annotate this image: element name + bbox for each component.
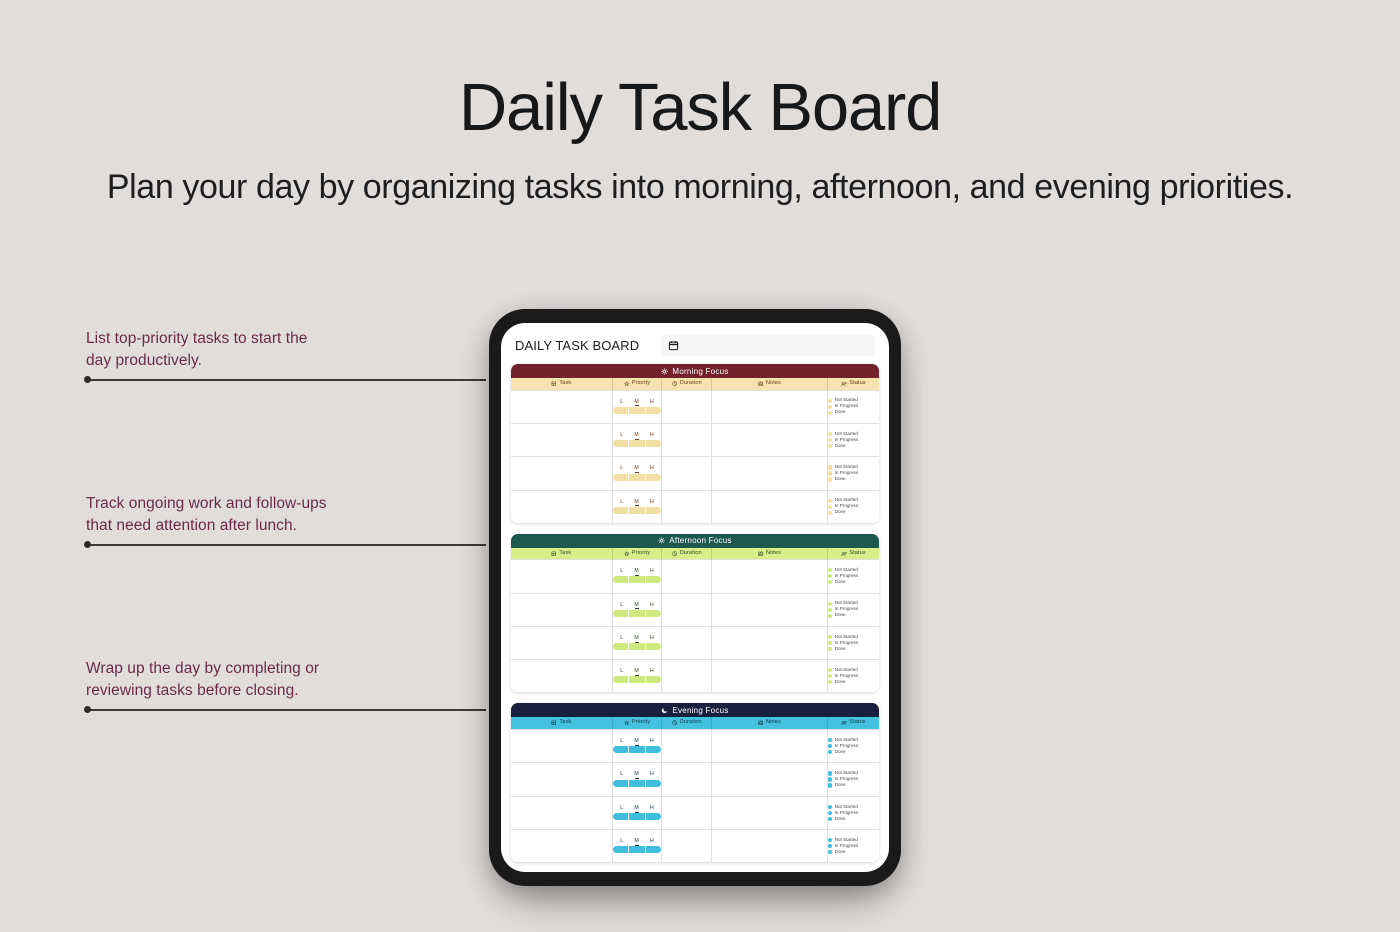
- status-option-not-started[interactable]: Not Started: [828, 805, 879, 810]
- priority-label-m[interactable]: M: [634, 500, 638, 505]
- cell-priority[interactable]: LMH: [612, 457, 662, 490]
- board-header: DAILY TASK BOARD: [511, 335, 879, 364]
- status-label: Not Started: [835, 738, 858, 743]
- table-icon: [551, 381, 557, 387]
- status-option-done[interactable]: Done: [828, 580, 879, 585]
- status-label: Done: [835, 510, 846, 515]
- cell-notes[interactable]: [712, 593, 828, 626]
- cell-notes[interactable]: [712, 457, 828, 490]
- cell-duration[interactable]: [662, 390, 712, 423]
- status-label: In Progress: [835, 471, 859, 476]
- priority-labels: LMH: [613, 603, 662, 608]
- status-label: Done: [835, 750, 846, 755]
- priority-label-h[interactable]: H: [650, 500, 654, 505]
- tablet-device: DAILY TASK BOARD Morning FocusTaskPriori…: [489, 309, 901, 886]
- section-afternoon: Afternoon FocusTaskPriorityDurationNotes…: [511, 534, 879, 693]
- page-title: Daily Task Board: [0, 74, 1400, 141]
- moon-icon: [661, 707, 668, 714]
- status-option-in-progress[interactable]: In Progress: [828, 844, 879, 849]
- status-option-not-started[interactable]: Not Started: [828, 601, 879, 606]
- cell-duration[interactable]: [662, 423, 712, 456]
- sun-icon: [661, 368, 668, 375]
- calendar-icon: [668, 340, 679, 351]
- clock-icon: [672, 551, 678, 557]
- status-label: Not Started: [835, 805, 858, 810]
- cell-priority[interactable]: LMH: [612, 593, 662, 626]
- evening-annotation-connector-line: [86, 709, 486, 711]
- priority-label-h[interactable]: H: [650, 433, 654, 438]
- cell-status[interactable]: Not StartedIn ProgressDone: [827, 593, 879, 626]
- cell-duration[interactable]: [662, 593, 712, 626]
- status-label: In Progress: [835, 811, 859, 816]
- status-dot: [828, 465, 832, 469]
- status-option-not-started[interactable]: Not Started: [828, 771, 879, 776]
- cell-duration[interactable]: [662, 457, 712, 490]
- status-dot: [828, 405, 832, 409]
- status-option-in-progress[interactable]: In Progress: [828, 777, 879, 782]
- priority-slider[interactable]: [613, 576, 662, 583]
- focus-sections: Morning FocusTaskPriorityDurationNotesSt…: [511, 364, 879, 862]
- column-label-duration: Duration: [680, 381, 702, 387]
- status-dot: [828, 750, 832, 754]
- cell-priority[interactable]: LMH: [612, 763, 662, 796]
- cell-task[interactable]: [511, 490, 612, 523]
- cell-status[interactable]: Not StartedIn ProgressDone: [827, 729, 879, 762]
- column-header-task: Task: [511, 548, 612, 560]
- priority-labels: LMH: [613, 400, 662, 405]
- status-dot: [828, 674, 832, 678]
- status-label: In Progress: [835, 574, 859, 579]
- cell-task[interactable]: [511, 660, 612, 693]
- status-option-in-progress[interactable]: In Progress: [828, 607, 879, 612]
- pencil-square-icon: [758, 381, 764, 387]
- cell-priority[interactable]: LMH: [612, 390, 662, 423]
- priority-label-m[interactable]: M: [634, 603, 638, 608]
- status-option-not-started[interactable]: Not Started: [828, 838, 879, 843]
- table-header-row: TaskPriorityDurationNotesStatus: [511, 717, 879, 729]
- morning-annotation: List top-priority tasks to start the day…: [86, 328, 307, 373]
- column-header-priority: Priority: [612, 378, 662, 390]
- cell-duration[interactable]: [662, 560, 712, 593]
- column-header-priority: Priority: [612, 548, 662, 560]
- cell-notes[interactable]: [712, 490, 828, 523]
- status-dot: [828, 511, 832, 515]
- star-icon: [624, 551, 630, 557]
- status-option-in-progress[interactable]: In Progress: [828, 438, 879, 443]
- status-option-done[interactable]: Done: [828, 680, 879, 685]
- status-dot: [828, 399, 832, 403]
- cell-notes[interactable]: [712, 796, 828, 829]
- status-option-in-progress[interactable]: In Progress: [828, 744, 879, 749]
- cell-status[interactable]: Not StartedIn ProgressDone: [827, 660, 879, 693]
- priority-label-l[interactable]: L: [620, 500, 623, 505]
- table-row: LMHNot StartedIn ProgressDone: [511, 626, 879, 659]
- evening-annotation-connector-dot: [84, 706, 91, 713]
- cell-priority[interactable]: LMH: [612, 830, 662, 863]
- person-icon: [841, 551, 847, 557]
- cell-duration[interactable]: [662, 763, 712, 796]
- cell-task[interactable]: [511, 560, 612, 593]
- status-dot: [828, 844, 832, 848]
- priority-label-m[interactable]: M: [634, 669, 638, 674]
- cell-task[interactable]: [511, 423, 612, 456]
- priority-label-m[interactable]: M: [634, 400, 638, 405]
- priority-labels: LMH: [613, 669, 662, 674]
- status-dot: [828, 614, 832, 618]
- column-header-task: Task: [511, 378, 612, 390]
- status-dot: [828, 602, 832, 606]
- status-label: Not Started: [835, 465, 858, 470]
- status-option-in-progress[interactable]: In Progress: [828, 504, 879, 509]
- table-row: LMHNot StartedIn ProgressDone: [511, 830, 879, 863]
- status-option-done[interactable]: Done: [828, 477, 879, 482]
- status-option-not-started[interactable]: Not Started: [828, 465, 879, 470]
- status-option-not-started[interactable]: Not Started: [828, 738, 879, 743]
- status-option-in-progress[interactable]: In Progress: [828, 404, 879, 409]
- column-label-notes: Notes: [766, 381, 781, 387]
- status-label: Done: [835, 680, 846, 685]
- cell-priority[interactable]: LMH: [612, 423, 662, 456]
- cell-status[interactable]: Not StartedIn ProgressDone: [827, 490, 879, 523]
- priority-slider[interactable]: [613, 440, 662, 447]
- status-option-done[interactable]: Done: [828, 444, 879, 449]
- cell-priority[interactable]: LMH: [612, 490, 662, 523]
- status-dot: [828, 744, 832, 748]
- status-label: In Progress: [835, 744, 859, 749]
- cell-task[interactable]: [511, 763, 612, 796]
- status-dot: [828, 771, 832, 775]
- section-title-morning: Morning Focus: [672, 367, 728, 376]
- priority-slider[interactable]: [613, 643, 662, 650]
- cell-priority[interactable]: LMH: [612, 626, 662, 659]
- table-row: LMHNot StartedIn ProgressDone: [511, 729, 879, 762]
- priority-slider[interactable]: [613, 676, 662, 683]
- priority-label-h[interactable]: H: [650, 839, 654, 844]
- column-label-duration: Duration: [680, 551, 702, 557]
- cell-duration[interactable]: [662, 830, 712, 863]
- status-option-not-started[interactable]: Not Started: [828, 568, 879, 573]
- table-morning: TaskPriorityDurationNotesStatusLMHNot St…: [511, 378, 879, 523]
- column-label-status: Status: [849, 381, 865, 387]
- table-header-row: TaskPriorityDurationNotesStatus: [511, 548, 879, 560]
- status-label: Not Started: [835, 771, 858, 776]
- status-label: In Progress: [835, 438, 859, 443]
- table-header-row: TaskPriorityDurationNotesStatus: [511, 378, 879, 390]
- column-label-priority: Priority: [632, 720, 650, 726]
- afternoon-annotation: Track ongoing work and follow-ups that n…: [86, 493, 327, 538]
- status-label: Done: [835, 817, 846, 822]
- status-dot: [828, 444, 832, 448]
- cell-status[interactable]: Not StartedIn ProgressDone: [827, 560, 879, 593]
- status-label: Not Started: [835, 601, 858, 606]
- priority-labels: LMH: [613, 636, 662, 641]
- priority-labels: LMH: [613, 806, 662, 811]
- date-input[interactable]: [661, 335, 875, 356]
- priority-label-h[interactable]: H: [650, 636, 654, 641]
- person-icon: [841, 381, 847, 387]
- priority-slider[interactable]: [613, 507, 662, 514]
- headline-block: Daily Task Board Plan your day by organi…: [0, 74, 1400, 211]
- cell-status[interactable]: Not StartedIn ProgressDone: [827, 763, 879, 796]
- cell-notes[interactable]: [712, 423, 828, 456]
- priority-labels: LMH: [613, 739, 662, 744]
- board-title: DAILY TASK BOARD: [515, 338, 639, 353]
- section-header-afternoon: Afternoon Focus: [511, 534, 879, 548]
- table-row: LMHNot StartedIn ProgressDone: [511, 423, 879, 456]
- status-option-done[interactable]: Done: [828, 410, 879, 415]
- cell-priority[interactable]: LMH: [612, 660, 662, 693]
- status-dot: [828, 641, 832, 645]
- column-header-notes: Notes: [712, 378, 828, 390]
- status-label: Not Started: [835, 498, 858, 503]
- status-option-done[interactable]: Done: [828, 817, 879, 822]
- status-dot: [828, 580, 832, 584]
- sun-rays-icon: [658, 537, 665, 544]
- status-option-in-progress[interactable]: In Progress: [828, 574, 879, 579]
- priority-labels: LMH: [613, 569, 662, 574]
- pencil-square-icon: [758, 551, 764, 557]
- priority-label-m[interactable]: M: [634, 433, 638, 438]
- cell-status[interactable]: Not StartedIn ProgressDone: [827, 796, 879, 829]
- column-header-notes: Notes: [712, 548, 828, 560]
- section-title-evening: Evening Focus: [672, 706, 728, 715]
- cell-status[interactable]: Not StartedIn ProgressDone: [827, 457, 879, 490]
- priority-label-l[interactable]: L: [620, 806, 623, 811]
- priority-label-l[interactable]: L: [620, 739, 623, 744]
- page-subtitle: Plan your day by organizing tasks into m…: [0, 163, 1400, 211]
- priority-label-l[interactable]: L: [620, 772, 623, 777]
- section-morning: Morning FocusTaskPriorityDurationNotesSt…: [511, 364, 879, 523]
- evening-annotation-text: Wrap up the day by completing or reviewi…: [86, 658, 319, 703]
- priority-labels: LMH: [613, 433, 662, 438]
- table-row: LMHNot StartedIn ProgressDone: [511, 796, 879, 829]
- table-icon: [551, 720, 557, 726]
- status-option-done[interactable]: Done: [828, 850, 879, 855]
- afternoon-annotation-connector-dot: [84, 541, 91, 548]
- clock-icon: [672, 381, 678, 387]
- priority-label-h[interactable]: H: [650, 739, 654, 744]
- priority-slider[interactable]: [613, 610, 662, 617]
- priority-label-l[interactable]: L: [620, 569, 623, 574]
- priority-label-l[interactable]: L: [620, 433, 623, 438]
- status-label: Done: [835, 580, 846, 585]
- status-dot: [828, 411, 832, 415]
- priority-label-m[interactable]: M: [634, 636, 638, 641]
- priority-label-m[interactable]: M: [634, 839, 638, 844]
- priority-label-h[interactable]: H: [650, 669, 654, 674]
- status-option-done[interactable]: Done: [828, 510, 879, 515]
- priority-label-l[interactable]: L: [620, 839, 623, 844]
- status-label: In Progress: [835, 607, 859, 612]
- cell-notes[interactable]: [712, 660, 828, 693]
- priority-label-m[interactable]: M: [634, 569, 638, 574]
- status-label: Not Started: [835, 838, 858, 843]
- status-option-done[interactable]: Done: [828, 613, 879, 618]
- priority-slider[interactable]: [613, 746, 662, 753]
- cell-duration[interactable]: [662, 626, 712, 659]
- column-header-notes: Notes: [712, 717, 828, 729]
- column-label-status: Status: [849, 720, 865, 726]
- priority-slider[interactable]: [613, 407, 662, 414]
- status-dot: [828, 668, 832, 672]
- column-label-notes: Notes: [766, 551, 781, 557]
- priority-slider[interactable]: [613, 474, 662, 481]
- status-dot: [828, 477, 832, 481]
- status-label: Not Started: [835, 668, 858, 673]
- column-label-notes: Notes: [766, 720, 781, 726]
- status-dot: [828, 805, 832, 809]
- table-row: LMHNot StartedIn ProgressDone: [511, 490, 879, 523]
- cell-status[interactable]: Not StartedIn ProgressDone: [827, 626, 879, 659]
- column-header-duration: Duration: [662, 548, 712, 560]
- cell-notes[interactable]: [712, 390, 828, 423]
- status-dot: [828, 499, 832, 503]
- column-label-task: Task: [559, 381, 571, 387]
- cell-task[interactable]: [511, 626, 612, 659]
- cell-priority[interactable]: LMH: [612, 560, 662, 593]
- priority-label-l[interactable]: L: [620, 466, 623, 471]
- column-label-duration: Duration: [680, 720, 702, 726]
- status-dot: [828, 838, 832, 842]
- priority-label-m[interactable]: M: [634, 772, 638, 777]
- priority-label-l[interactable]: L: [620, 636, 623, 641]
- section-evening: Evening FocusTaskPriorityDurationNotesSt…: [511, 703, 879, 862]
- cell-duration[interactable]: [662, 660, 712, 693]
- afternoon-annotation-connector-line: [86, 544, 486, 546]
- status-label: Done: [835, 444, 846, 449]
- priority-label-l[interactable]: L: [620, 400, 623, 405]
- status-label: In Progress: [835, 504, 859, 509]
- cell-task[interactable]: [511, 729, 612, 762]
- morning-annotation-connector-line: [86, 379, 486, 381]
- status-label: In Progress: [835, 844, 859, 849]
- cell-notes[interactable]: [712, 729, 828, 762]
- status-option-not-started[interactable]: Not Started: [828, 398, 879, 403]
- star-icon: [624, 381, 630, 387]
- priority-label-m[interactable]: M: [634, 466, 638, 471]
- tablet-screen: DAILY TASK BOARD Morning FocusTaskPriori…: [501, 323, 889, 872]
- status-label: Done: [835, 647, 846, 652]
- priority-label-h[interactable]: H: [650, 772, 654, 777]
- status-label: Done: [835, 410, 846, 415]
- section-header-evening: Evening Focus: [511, 703, 879, 717]
- priority-label-h[interactable]: H: [650, 569, 654, 574]
- column-header-duration: Duration: [662, 378, 712, 390]
- column-header-task: Task: [511, 717, 612, 729]
- status-option-done[interactable]: Done: [828, 647, 879, 652]
- priority-label-h[interactable]: H: [650, 466, 654, 471]
- table-row: LMHNot StartedIn ProgressDone: [511, 390, 879, 423]
- status-dot: [828, 738, 832, 742]
- status-dot: [828, 432, 832, 436]
- priority-label-h[interactable]: H: [650, 806, 654, 811]
- section-title-afternoon: Afternoon Focus: [669, 536, 731, 545]
- cell-duration[interactable]: [662, 729, 712, 762]
- priority-label-m[interactable]: M: [634, 806, 638, 811]
- status-label: Done: [835, 850, 846, 855]
- status-option-in-progress[interactable]: In Progress: [828, 674, 879, 679]
- cell-priority[interactable]: LMH: [612, 796, 662, 829]
- afternoon-annotation-text: Track ongoing work and follow-ups that n…: [86, 493, 327, 538]
- status-dot: [828, 438, 832, 442]
- status-option-in-progress[interactable]: In Progress: [828, 811, 879, 816]
- morning-annotation-connector-dot: [84, 376, 91, 383]
- status-dot: [828, 608, 832, 612]
- status-option-done[interactable]: Done: [828, 783, 879, 788]
- cell-status[interactable]: Not StartedIn ProgressDone: [827, 390, 879, 423]
- cell-notes[interactable]: [712, 626, 828, 659]
- cell-task[interactable]: [511, 830, 612, 863]
- priority-label-h[interactable]: H: [650, 400, 654, 405]
- status-option-in-progress[interactable]: In Progress: [828, 641, 879, 646]
- priority-label-l[interactable]: L: [620, 603, 623, 608]
- cell-status[interactable]: Not StartedIn ProgressDone: [827, 423, 879, 456]
- priority-label-l[interactable]: L: [620, 669, 623, 674]
- status-option-not-started[interactable]: Not Started: [828, 668, 879, 673]
- cell-status[interactable]: Not StartedIn ProgressDone: [827, 830, 879, 863]
- table-evening: TaskPriorityDurationNotesStatusLMHNot St…: [511, 717, 879, 862]
- cell-priority[interactable]: LMH: [612, 729, 662, 762]
- column-header-status: Status: [827, 548, 879, 560]
- priority-slider[interactable]: [613, 780, 662, 787]
- cell-duration[interactable]: [662, 796, 712, 829]
- clock-icon: [672, 720, 678, 726]
- status-label: Not Started: [835, 398, 858, 403]
- table-afternoon: TaskPriorityDurationNotesStatusLMHNot St…: [511, 548, 879, 693]
- column-label-task: Task: [559, 720, 571, 726]
- table-row: LMHNot StartedIn ProgressDone: [511, 660, 879, 693]
- status-label: Not Started: [835, 635, 858, 640]
- status-option-not-started[interactable]: Not Started: [828, 498, 879, 503]
- cell-notes[interactable]: [712, 560, 828, 593]
- status-dot: [828, 817, 832, 821]
- table-row: LMHNot StartedIn ProgressDone: [511, 457, 879, 490]
- priority-labels: LMH: [613, 839, 662, 844]
- status-option-not-started[interactable]: Not Started: [828, 635, 879, 640]
- status-option-done[interactable]: Done: [828, 750, 879, 755]
- priority-label-h[interactable]: H: [650, 603, 654, 608]
- status-label: In Progress: [835, 641, 859, 646]
- cell-task[interactable]: [511, 796, 612, 829]
- status-dot: [828, 505, 832, 509]
- priority-slider[interactable]: [613, 813, 662, 820]
- cell-duration[interactable]: [662, 490, 712, 523]
- cell-task[interactable]: [511, 593, 612, 626]
- star-icon: [624, 720, 630, 726]
- column-label-status: Status: [849, 551, 865, 557]
- table-row: LMHNot StartedIn ProgressDone: [511, 763, 879, 796]
- cell-task[interactable]: [511, 390, 612, 423]
- status-dot: [828, 783, 832, 787]
- cell-task[interactable]: [511, 457, 612, 490]
- status-label: Done: [835, 613, 846, 618]
- priority-slider[interactable]: [613, 846, 662, 853]
- cell-notes[interactable]: [712, 830, 828, 863]
- status-option-not-started[interactable]: Not Started: [828, 432, 879, 437]
- status-label: In Progress: [835, 404, 859, 409]
- status-dot: [828, 471, 832, 475]
- column-header-priority: Priority: [612, 717, 662, 729]
- status-label: In Progress: [835, 777, 859, 782]
- priority-labels: LMH: [613, 772, 662, 777]
- priority-label-m[interactable]: M: [634, 739, 638, 744]
- person-icon: [841, 720, 847, 726]
- status-dot: [828, 635, 832, 639]
- cell-notes[interactable]: [712, 763, 828, 796]
- status-dot: [828, 647, 832, 651]
- status-option-in-progress[interactable]: In Progress: [828, 471, 879, 476]
- table-row: LMHNot StartedIn ProgressDone: [511, 560, 879, 593]
